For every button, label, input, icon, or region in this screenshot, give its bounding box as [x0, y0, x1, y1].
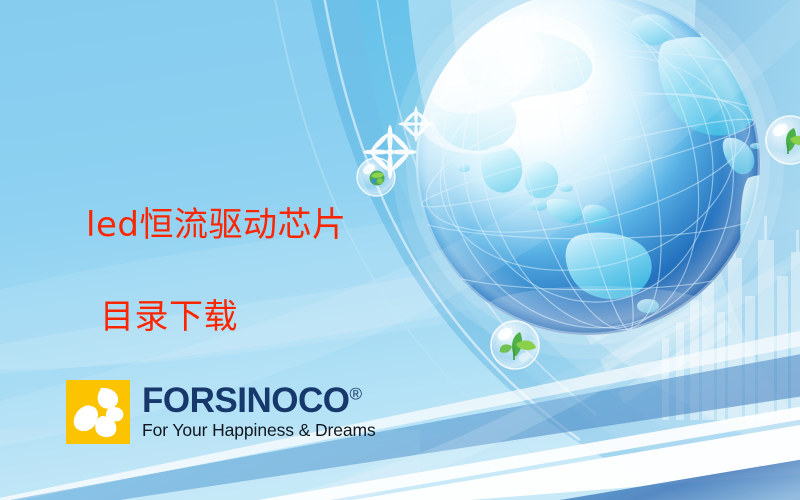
logo-wordmark-text: FORSINOCO: [142, 381, 349, 420]
four-petal-pinwheel-icon: [66, 380, 130, 444]
bubble-with-globe-icon: [357, 158, 395, 196]
mini-globe-icon: [370, 171, 385, 186]
logo-text-block: FORSINOCO® For Your Happiness & Dreams: [142, 380, 376, 440]
registered-trademark-icon: ®: [349, 384, 362, 403]
pinwheel-petals: [66, 380, 130, 444]
bubble-with-leaf-icon: [491, 321, 539, 369]
logo-wordmark: FORSINOCO®: [142, 383, 376, 418]
logo-tagline: For Your Happiness & Dreams: [142, 421, 376, 440]
promo-banner: led恒流驱动芯片 目录下载 FORSINOCO® For Your Happi…: [0, 0, 800, 500]
company-logo: FORSINOCO® For Your Happiness & Dreams: [66, 380, 376, 444]
